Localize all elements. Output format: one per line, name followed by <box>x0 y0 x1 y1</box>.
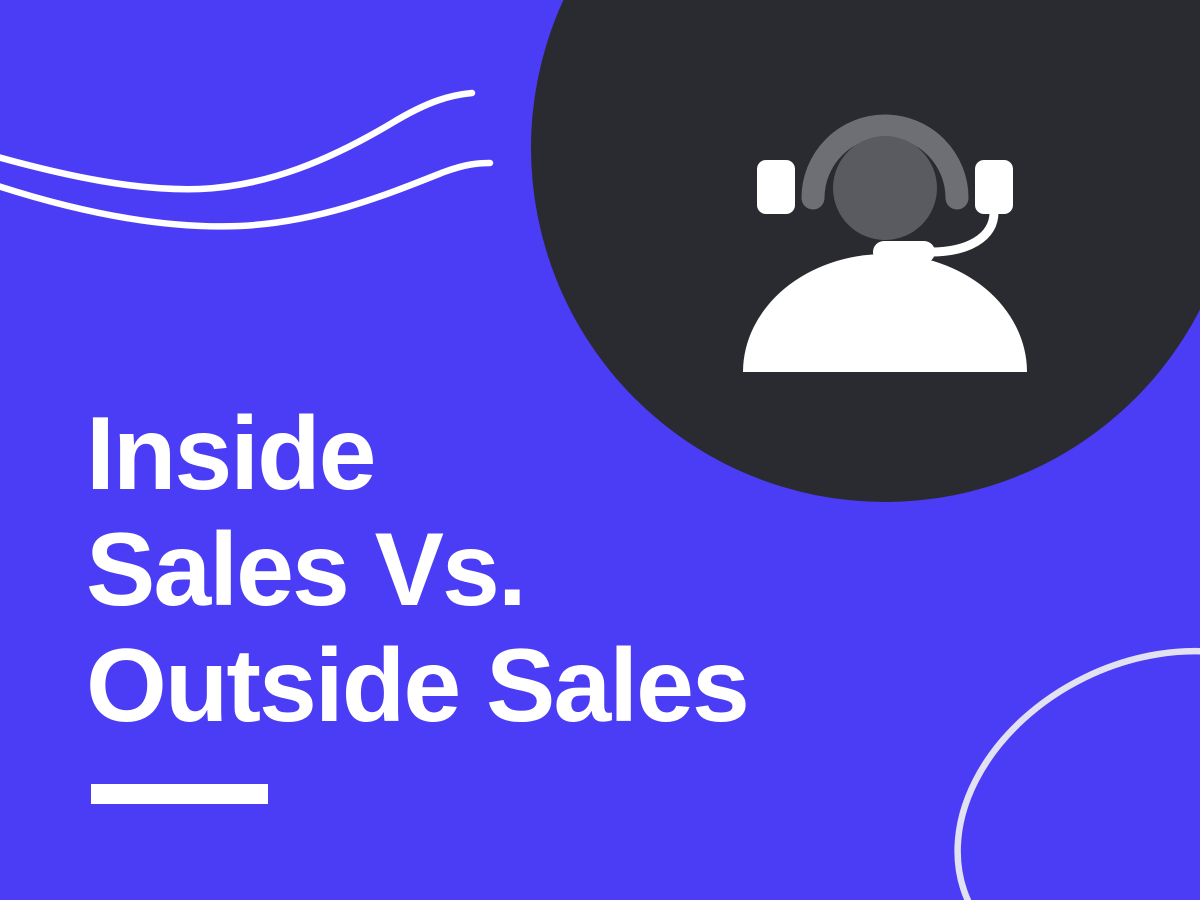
page-title-line-2: Sales Vs. <box>86 512 966 628</box>
wave-line-top <box>0 93 472 189</box>
shoulders-icon <box>743 254 1027 372</box>
headset-support-agent-icon <box>735 80 1035 380</box>
page-title: Inside Sales Vs. Outside Sales <box>86 396 966 744</box>
head-icon <box>833 136 937 240</box>
wave-line-bottom <box>0 163 490 226</box>
left-earcup-icon <box>757 160 795 214</box>
accent-underline-bar <box>91 784 268 804</box>
poster-canvas: Inside Sales Vs. Outside Sales <box>0 0 1200 900</box>
right-earcup-icon <box>975 160 1013 214</box>
page-title-line-3: Outside Sales <box>86 628 966 744</box>
microphone-boom-icon <box>931 212 994 252</box>
page-title-line-1: Inside <box>86 396 966 512</box>
